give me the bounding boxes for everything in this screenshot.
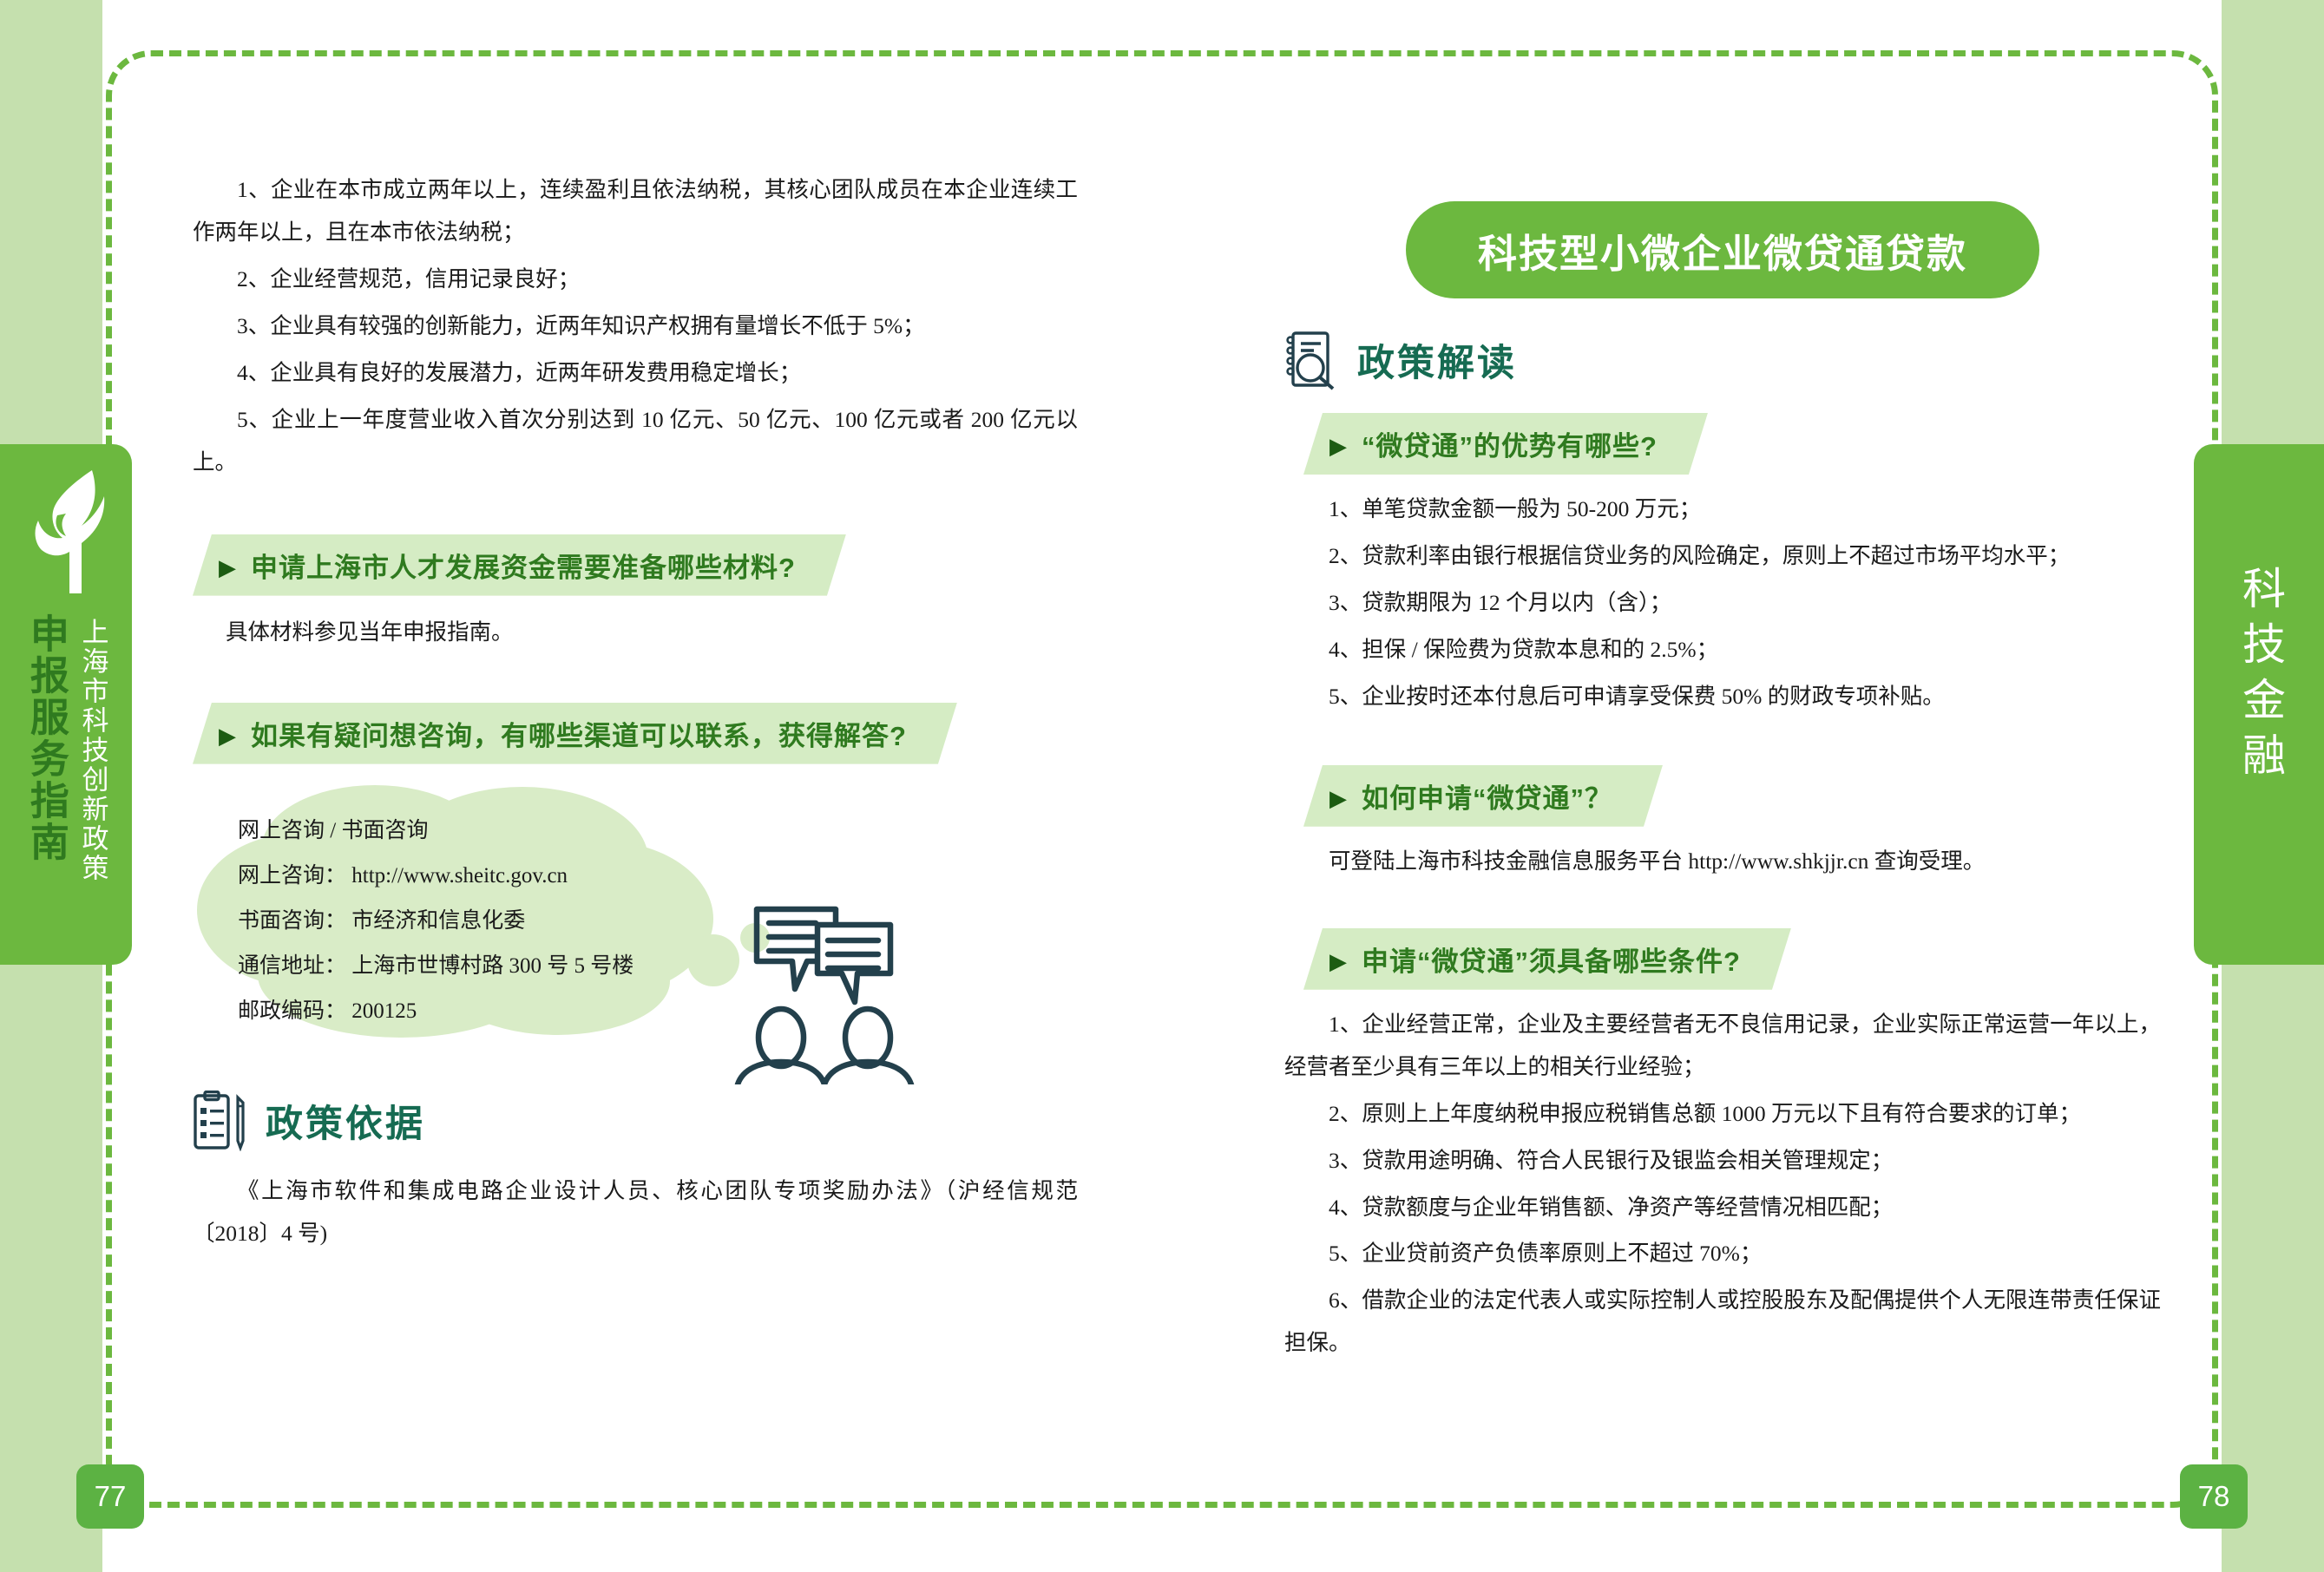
- page-title-banner: 科技型小微企业微贷通贷款: [1406, 201, 2039, 298]
- right-page-content: 政策解读 ▶“微贷通”的优势有哪些? 1、单笔贷款金额一般为 50-200 万元…: [1284, 330, 2161, 1369]
- notebook-magnifier-icon: [1284, 330, 1340, 390]
- sidebar-title-main: 申报服务指南: [26, 613, 66, 863]
- triangle-bullet-icon: ▶: [1329, 948, 1348, 975]
- left-page-content: 1、企业在本市成立两年以上，连续盈利且依法纳税，其核心团队成员在本企业连续工作两…: [193, 169, 1078, 1260]
- consult-cloud-text: 网上咨询 / 书面咨询 网上咨询： http://www.sheitc.gov.…: [238, 809, 634, 1035]
- sidebar-title-sub: 上海市科技创新政策: [78, 618, 107, 883]
- question-bar-materials[interactable]: ▶申请上海市人才发展资金需要准备哪些材料?: [193, 534, 846, 596]
- policy-interpretation-label: 政策解读: [1357, 333, 1517, 387]
- answer-howto: 可登陆上海市科技金融信息服务平台 http://www.shkjjr.cn 查询…: [1284, 841, 2161, 883]
- triangle-bullet-icon: ▶: [219, 723, 237, 750]
- question-bar-materials-label: 申请上海市人才发展资金需要准备哪些材料?: [251, 553, 796, 583]
- question-bar-conditions-label: 申请“微贷通”须具备哪些条件?: [1362, 946, 1741, 977]
- criteria-item: 5、企业上一年度营业收入首次分别达到 10 亿元、50 亿元、100 亿元或者 …: [193, 399, 1078, 484]
- triangle-bullet-icon: ▶: [1329, 433, 1348, 460]
- consult-line: 网上咨询 / 书面咨询: [238, 809, 634, 853]
- page-number-left: 77: [76, 1464, 144, 1529]
- policy-basis-text: 《上海市软件和集成电路企业设计人员、核心团队专项奖励办法》（沪经信规范〔2018…: [193, 1170, 1078, 1255]
- question-consult-block: ▶如果有疑问想咨询，有哪些渠道可以联系，获得解答?: [193, 703, 1078, 764]
- document-page: 申报服务指南 上海市科技创新政策 科技金融 77 78 1、企业在本市成立两年以…: [0, 0, 2324, 1572]
- criteria-item: 1、企业在本市成立两年以上，连续盈利且依法纳税，其核心团队成员在本企业连续工作两…: [193, 169, 1078, 254]
- answer-materials: 具体材料参见当年申报指南。: [226, 612, 1078, 654]
- consult-line: 网上咨询： http://www.sheitc.gov.cn: [238, 855, 634, 898]
- advantage-item: 5、企业按时还本付息后可申请享受保费 50% 的财政专项补贴。: [1284, 676, 2161, 718]
- advantage-item: 2、贷款利率由银行根据信贷业务的风险确定，原则上不超过市场平均水平；: [1284, 535, 2161, 578]
- consult-line: 书面咨询： 市经济和信息化委: [238, 900, 634, 943]
- triangle-bullet-icon: ▶: [1329, 785, 1348, 812]
- page-title-text: 科技型小微企业微贷通贷款: [1478, 222, 1967, 278]
- sidebar-tab-left[interactable]: 申报服务指南 上海市科技创新政策: [0, 444, 132, 965]
- consult-line: 邮政编码： 200125: [238, 990, 634, 1033]
- question-bar-advantages[interactable]: ▶“微贷通”的优势有哪些?: [1303, 413, 1708, 475]
- condition-item: 2、原则上上年度纳税申报应税销售总额 1000 万元以下且有符合要求的订单；: [1284, 1093, 2161, 1136]
- sidebar-tab-right[interactable]: 科技金融: [2194, 444, 2324, 965]
- clipboard-pencil-icon: [193, 1091, 248, 1151]
- condition-item: 6、借款企业的法定代表人或实际控制人或控股股东及配偶提供个人无限连带责任保证担保…: [1284, 1280, 2161, 1365]
- policy-basis-label: 政策依据: [266, 1094, 425, 1148]
- advantage-item: 1、单笔贷款金额一般为 50-200 万元；: [1284, 488, 2161, 531]
- advantage-item: 3、贷款期限为 12 个月以内（含）；: [1284, 582, 2161, 625]
- condition-item: 1、企业经营正常，企业及主要经营者无不良信用记录，企业实际正常运营一年以上，经营…: [1284, 1004, 2161, 1089]
- criteria-item: 3、企业具有较强的创新能力，近两年知识产权拥有量增长不低于 5%；: [193, 305, 1078, 348]
- triangle-bullet-icon: ▶: [219, 554, 237, 581]
- consult-line: 通信地址： 上海市世博村路 300 号 5 号楼: [238, 945, 634, 988]
- people-speech-bubbles-icon: [720, 868, 929, 1084]
- advantage-item: 4、担保 / 保险费为贷款本息和的 2.5%；: [1284, 629, 2161, 671]
- policy-basis-heading: 政策依据: [193, 1091, 1078, 1151]
- question-bar-conditions[interactable]: ▶申请“微贷通”须具备哪些条件?: [1303, 928, 1791, 990]
- condition-item: 4、贷款额度与企业年销售额、净资产等经营情况相匹配；: [1284, 1187, 2161, 1229]
- question-bar-consult[interactable]: ▶如果有疑问想咨询，有哪些渠道可以联系，获得解答?: [193, 703, 957, 764]
- criteria-item: 2、企业经营规范，信用记录良好；: [193, 259, 1078, 301]
- q-conditions-block: ▶申请“微贷通”须具备哪些条件?: [1303, 928, 2161, 990]
- q-howto-block: ▶如何申请“微贷通”？: [1303, 765, 2161, 827]
- conditions-list: 1、企业经营正常，企业及主要经营者无不良信用记录，企业实际正常运营一年以上，经营…: [1284, 1004, 2161, 1366]
- condition-item: 5、企业贷前资产负债率原则上不超过 70%；: [1284, 1233, 2161, 1275]
- question-bar-consult-label: 如果有疑问想咨询，有哪些渠道可以联系，获得解答?: [251, 721, 907, 751]
- question-bar-advantages-label: “微贷通”的优势有哪些?: [1362, 431, 1658, 462]
- question-bar-howto[interactable]: ▶如何申请“微贷通”？: [1303, 765, 1663, 827]
- question-materials-block: ▶申请上海市人才发展资金需要准备哪些材料?: [193, 534, 1078, 596]
- q-advantages-block: ▶“微贷通”的优势有哪些?: [1303, 413, 2161, 475]
- condition-item: 3、贷款用途明确、符合人民银行及银监会相关管理规定；: [1284, 1140, 2161, 1182]
- criteria-item: 4、企业具有良好的发展潜力，近两年研发费用稳定增长；: [193, 352, 1078, 395]
- sidebar-tab-right-label: 科技金融: [2232, 566, 2288, 788]
- advantages-list: 1、单笔贷款金额一般为 50-200 万元； 2、贷款利率由银行根据信贷业务的风…: [1284, 488, 2161, 718]
- page-number-right: 78: [2180, 1464, 2248, 1529]
- consult-cloud: 网上咨询 / 书面咨询 网上咨询： http://www.sheitc.gov.…: [193, 780, 800, 1040]
- cip-flame-logo-icon: [31, 467, 111, 597]
- question-bar-howto-label: 如何申请“微贷通”？: [1362, 783, 1612, 814]
- criteria-list: 1、企业在本市成立两年以上，连续盈利且依法纳税，其核心团队成员在本企业连续工作两…: [193, 169, 1078, 484]
- policy-interpretation-heading: 政策解读: [1284, 330, 2161, 390]
